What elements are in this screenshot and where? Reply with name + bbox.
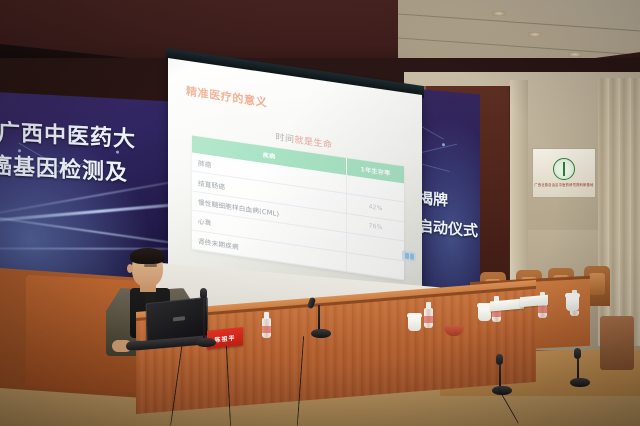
laptop-logo (173, 316, 185, 321)
downlight-icon (492, 11, 506, 16)
tea-cup-with-lid (566, 296, 579, 311)
microphone-base (570, 378, 590, 387)
banner-left-line1: 广西中医药大 (0, 114, 136, 153)
microphone-stem (499, 364, 501, 388)
speaker-nameplate-text: 陈祖平 (214, 332, 235, 343)
tea-cup-with-lid (408, 316, 421, 331)
water-bottle (424, 302, 433, 328)
water-bottle (262, 312, 271, 338)
wall-plaque: 广西壮族自治区中医药研究院科研基地 (532, 148, 596, 198)
speaker-ear (127, 264, 133, 273)
slide-table: 疾病 1年生存率 肺癌 结直肠癌 42% 慢性髓细胞样白血病(CML) (192, 136, 404, 281)
image-placeholder-icon (402, 250, 416, 262)
slide-subtitle-prefix: 时间 (275, 133, 294, 146)
downlight-icon (568, 52, 582, 57)
speaker-eyes (144, 264, 157, 267)
microphone-base (196, 338, 216, 347)
slide-subtitle-highlight: 就是生命 (295, 135, 333, 151)
side-chair (600, 316, 634, 370)
speaker-hair (130, 248, 165, 264)
banner-left-line2: 癌基因检测及 (0, 148, 128, 187)
microphone-stem (577, 358, 579, 380)
microphone-base (311, 329, 331, 338)
downlight-icon (528, 32, 542, 37)
emblem-icon (553, 158, 575, 180)
microphone-stem (203, 298, 205, 340)
wall-plaque-text: 广西壮族自治区中医药研究院科研基地 (534, 184, 593, 187)
conference-hall-photo: 广西壮族自治区中医药研究院科研基地 广西中医药大 癌基因检测及 验室揭牌 项目启… (0, 0, 640, 426)
microphone-stem (318, 305, 320, 331)
